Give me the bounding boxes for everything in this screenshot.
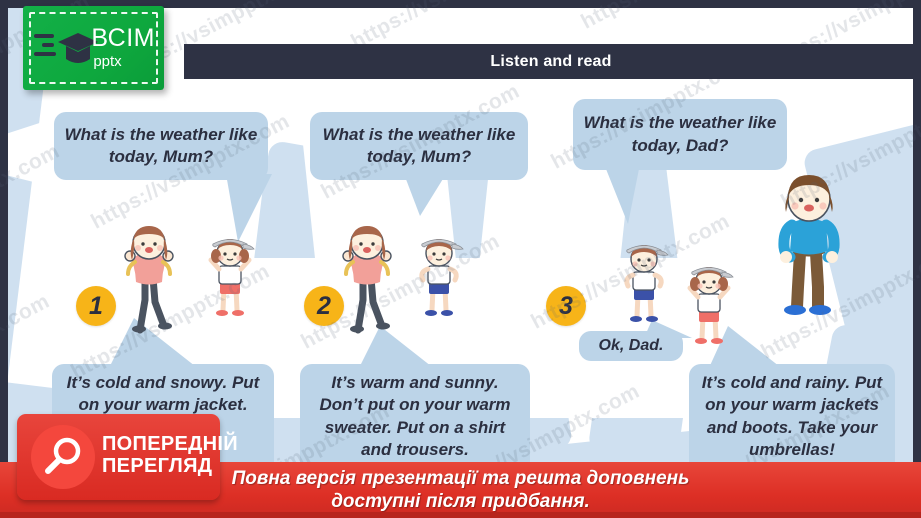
question-bubble-2: What is the weather like today, Mum? [310,112,528,180]
magnifier-icon [31,425,95,489]
logo-name: ВСІМ [91,26,155,51]
logo-subname: pptx [93,54,155,69]
character-girl-1 [201,238,259,333]
speech-tail [226,174,272,242]
character-dad-3 [770,175,848,325]
speech-tail [404,174,446,216]
logo-text: ВСІМ pptx [91,26,155,69]
step-number-3: 3 [546,286,586,326]
preview-badge-line1: ПОПЕРЕДНІЙ [102,434,238,456]
speed-lines-icon [34,34,56,61]
purchase-banner-line2: доступні після придбання. [232,490,690,513]
speech-tail [604,164,640,224]
banner-bottom-strip [0,512,921,518]
question-bubble-3: What is the weather like today, Dad? [573,99,787,170]
character-boy-3 [615,244,673,339]
question-bubble-1: What is the weather like today, Mum? [54,112,268,180]
step-number-1: 1 [76,286,116,326]
character-mum-2 [332,226,402,343]
preview-badge[interactable]: ПОПЕРЕДНІЙ ПЕРЕГЛЯД [17,414,220,500]
character-girl-3 [680,266,738,361]
preview-badge-label: ПОПЕРЕДНІЙ ПЕРЕГЛЯД [102,434,238,477]
presentation-slide: Listen and read What is the weather like… [0,0,921,518]
vsimpptx-logo[interactable]: ВСІМ pptx [23,6,164,90]
page-title: Listen and read [490,53,611,71]
step-number-2: 2 [304,286,344,326]
purchase-banner-line1: Повна версія презентації та решта доповн… [232,467,690,490]
preview-badge-line2: ПЕРЕГЛЯД [102,456,238,478]
character-mum-1 [114,226,184,343]
purchase-banner-text: Повна версія презентації та решта доповн… [232,467,690,513]
character-boy-2 [410,238,468,333]
slide-title-bar: Listen and read [184,44,913,79]
